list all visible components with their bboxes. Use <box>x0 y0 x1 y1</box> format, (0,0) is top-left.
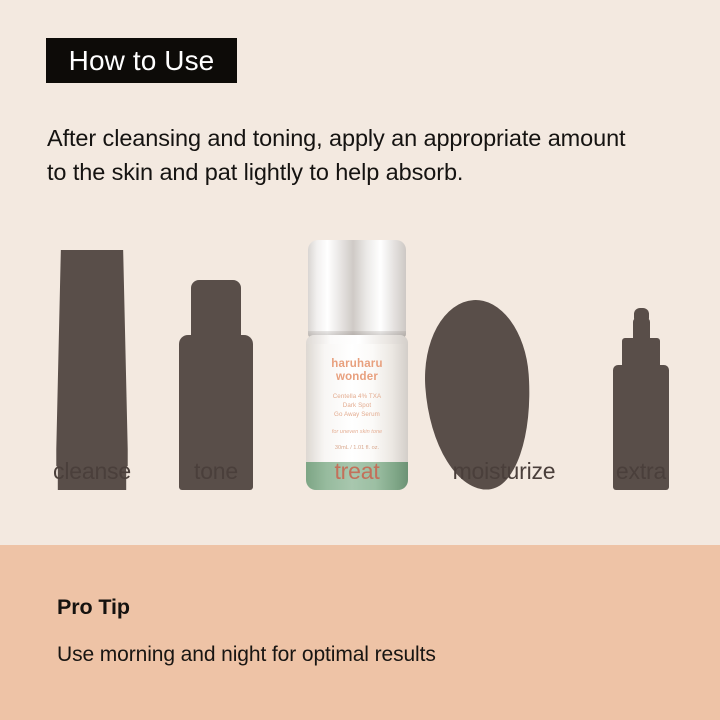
toner-bottle-cap-icon <box>191 280 241 340</box>
pro-tip-section: Pro Tip Use morning and night for optima… <box>0 545 720 720</box>
serum-pump-bottle-product: haruharu wonder Centella 4% TXA Dark Spo… <box>304 240 410 490</box>
routine-step-extra <box>580 190 702 490</box>
moisturize-art <box>424 235 584 490</box>
extra-art <box>580 235 702 490</box>
pro-tip-title: Pro Tip <box>57 594 130 620</box>
product-brand-line1: haruharu <box>331 358 382 370</box>
routine-step-cleanse <box>18 190 166 490</box>
usage-instruction-text: After cleansing and toning, apply an app… <box>47 121 647 189</box>
product-description: Centella 4% TXA Dark Spot Go Away Serum <box>333 392 382 419</box>
dropper-neck-icon <box>633 318 650 340</box>
routine-step-treat: haruharu wonder Centella 4% TXA Dark Spo… <box>282 190 432 490</box>
step-label-cleanse: cleanse <box>18 455 166 487</box>
step-label-extra: extra <box>580 455 702 487</box>
routine-step-moisturize <box>424 190 584 490</box>
tube-silhouette-icon <box>54 250 130 490</box>
routine-step-labels: cleanse tone treat moisturize extra <box>0 455 720 491</box>
product-desc-line2: Dark Spot <box>333 401 382 410</box>
how-to-use-badge: How to Use <box>46 38 237 83</box>
routine-step-tone <box>152 190 280 490</box>
product-desc-line3: Go Away Serum <box>333 410 382 419</box>
product-tagline: for uneven skin tone <box>306 428 408 436</box>
treat-art: haruharu wonder Centella 4% TXA Dark Spo… <box>282 235 432 490</box>
product-brand-name: haruharu wonder <box>331 358 382 383</box>
dropper-collar-icon <box>622 338 660 368</box>
cleanse-art <box>18 235 166 490</box>
product-volume: 30mL / 1.01 fl. oz. <box>306 444 408 452</box>
routine-steps-row: haruharu wonder Centella 4% TXA Dark Spo… <box>0 190 720 490</box>
step-label-tone: tone <box>152 455 280 487</box>
step-label-treat: treat <box>282 455 432 487</box>
product-desc-line1: Centella 4% TXA <box>333 392 382 401</box>
how-to-use-badge-label: How to Use <box>69 47 215 75</box>
product-pump-cap <box>308 240 406 338</box>
how-to-use-infographic: How to Use After cleansing and toning, a… <box>0 0 720 720</box>
tone-art <box>152 235 280 490</box>
product-label: haruharu wonder Centella 4% TXA Dark Spo… <box>306 344 408 466</box>
step-label-moisturize: moisturize <box>424 455 584 487</box>
pro-tip-text: Use morning and night for optimal result… <box>57 641 436 669</box>
product-brand-line2: wonder <box>331 371 382 384</box>
